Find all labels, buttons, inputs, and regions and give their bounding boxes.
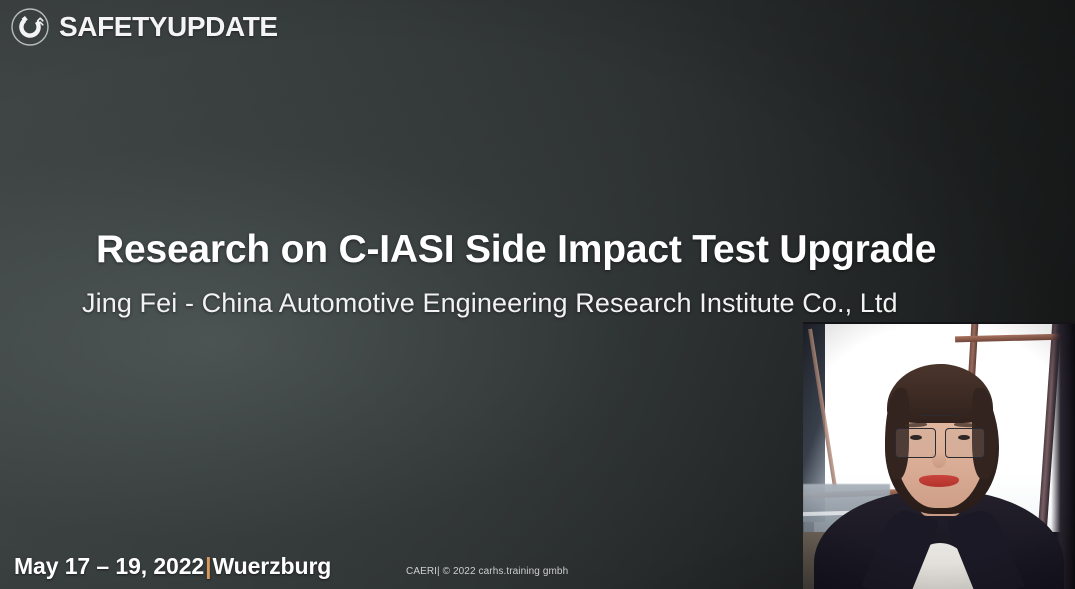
brand-logo: SAFETYUPDATE xyxy=(10,7,278,47)
footer-copyright: CAERI| © 2022 carhs.training gmbh xyxy=(406,566,568,577)
slide-title: Research on C-IASI Side Impact Test Upgr… xyxy=(96,228,936,272)
glasses-lens-right xyxy=(945,428,986,458)
footer-event-info: May 17 – 19, 2022 | Wuerzburg xyxy=(14,553,331,580)
glasses-lens-left xyxy=(895,428,936,458)
slide-subtitle: Jing Fei - China Automotive Engineering … xyxy=(82,288,898,319)
video-frame xyxy=(803,324,1075,589)
brand-name: SAFETYUPDATE xyxy=(59,13,278,41)
footer-date-range: May 17 – 19, 2022 xyxy=(14,553,204,580)
footer-location: Wuerzburg xyxy=(212,553,331,580)
nose xyxy=(932,452,946,468)
eyebrow-right xyxy=(954,422,976,427)
safety-update-circular-arrow-icon xyxy=(10,7,50,47)
presenter-figure xyxy=(803,324,1075,589)
presenter-video-tile[interactable] xyxy=(803,322,1075,589)
presentation-slide-screen: SAFETYUPDATE Research on C-IASI Side Imp… xyxy=(0,0,1075,589)
glasses-bridge xyxy=(920,415,958,417)
